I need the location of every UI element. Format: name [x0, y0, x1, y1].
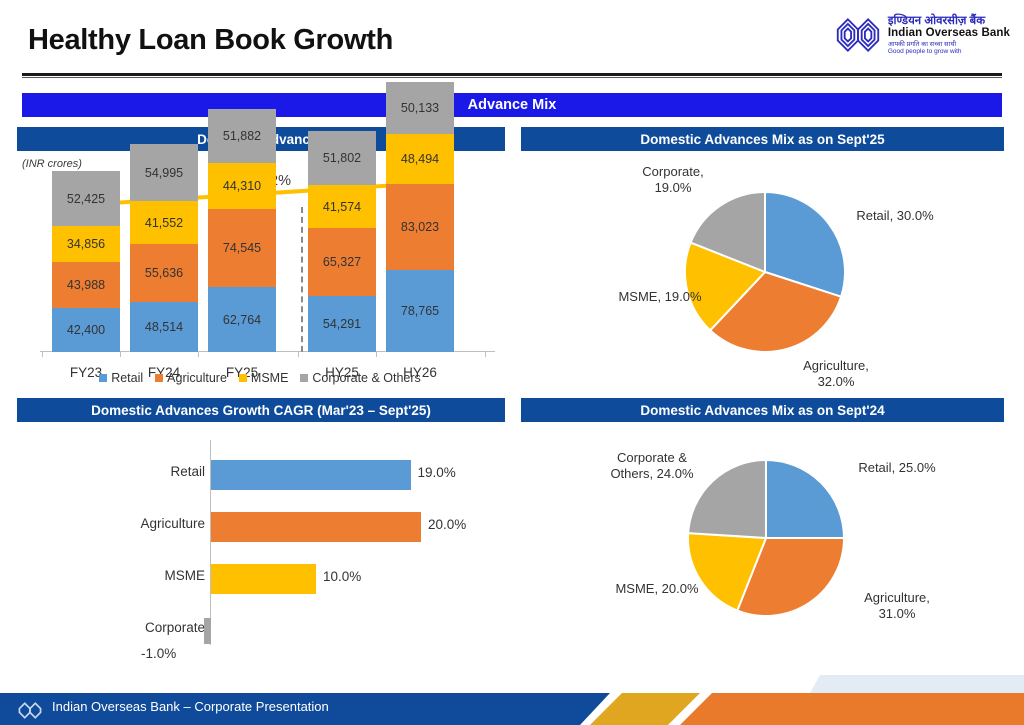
pie-label-agriculture: Agriculture, 32.0% — [776, 358, 896, 391]
pie-slice-retail — [766, 460, 844, 538]
bar-segment-corporate-others: 54,995 — [130, 144, 198, 201]
header-rule — [22, 73, 1002, 76]
bar-column-hy26: 50,13348,49483,02378,765 — [386, 82, 454, 352]
bar-segment-msme: 41,574 — [308, 185, 376, 228]
bar-segment-agriculture: 65,327 — [308, 228, 376, 296]
legend-label-retail: Retail — [111, 371, 143, 385]
legend-item-agriculture: Agriculture — [155, 371, 227, 385]
bank-logo: इण्डियन ओवरसीज़ बैंक Indian Overseas Ban… — [835, 12, 1010, 58]
bar-column-hy25: 51,80241,57465,32754,291 — [308, 131, 376, 352]
cagr-row-corporate: Corporate-1.0% — [17, 614, 505, 648]
bar-segment-retail: 78,765 — [386, 270, 454, 352]
cagr-category-label-msme: MSME — [165, 568, 206, 583]
advance-mix-banner: Advance Mix — [22, 93, 1002, 117]
bar-segment-agriculture: 43,988 — [52, 262, 120, 308]
page-title: Healthy Loan Book Growth — [28, 24, 393, 57]
iob-diamond-logo-icon — [835, 12, 881, 58]
logo-hindi-name: इण्डियन ओवरसीज़ बैंक — [888, 15, 1010, 27]
legend-swatch-agriculture — [155, 374, 163, 382]
period-divider — [301, 207, 303, 352]
cagr-category-label-retail: Retail — [170, 464, 205, 479]
bar-column-fy25: 51,88244,31074,54562,764 — [208, 109, 276, 352]
pie-label-retail: Retail, 25.0% — [837, 460, 957, 476]
bar-segment-corporate-others: 51,882 — [208, 109, 276, 163]
cagr-category-label-corporate: Corporate — [145, 620, 205, 635]
bar-chart-legend: Retail Agriculture MSME Corporate & Othe… — [20, 371, 500, 385]
cagr-value-label-retail: 19.0% — [418, 465, 456, 480]
cagr-bar-msme — [211, 564, 316, 594]
pie-label-msme: MSME, 19.0% — [605, 289, 715, 305]
legend-label-agriculture: Agriculture — [167, 371, 227, 385]
panel-title-growth-cagr: Domestic Advances Growth CAGR (Mar'23 – … — [17, 398, 505, 422]
bar-segment-agriculture: 83,023 — [386, 184, 454, 270]
bar-column-fy24: 54,99541,55255,63648,514 — [130, 144, 198, 352]
header-rule-thin — [22, 77, 1002, 78]
bar-segment-corporate-others: 50,133 — [386, 82, 454, 134]
stacked-bar-chart: 52,42534,85643,98842,400FY2354,99541,552… — [20, 160, 500, 390]
pie-chart-sept25: Retail, 30.0%Agriculture, 32.0%MSME, 19.… — [521, 152, 1004, 395]
pie-label-corporate: Corporate, 19.0% — [613, 164, 733, 197]
bar-segment-msme: 44,310 — [208, 163, 276, 209]
panel-title-mix-sept25: Domestic Advances Mix as on Sept'25 — [521, 127, 1004, 151]
bar-column-fy23: 52,42534,85643,98842,400 — [52, 171, 120, 352]
cagr-row-retail: Retail19.0% — [17, 458, 505, 492]
cagr-category-label-agriculture: Agriculture — [140, 516, 205, 531]
bar-segment-msme: 34,856 — [52, 226, 120, 262]
cagr-bar-corporate — [204, 618, 211, 644]
cagr-bar-agriculture — [211, 512, 421, 542]
pie-label-retail: Retail, 30.0% — [835, 208, 955, 224]
bar-segment-agriculture: 74,545 — [208, 209, 276, 287]
cagr-row-msme: MSME10.0% — [17, 562, 505, 596]
bar-segment-retail: 42,400 — [52, 308, 120, 352]
footer-bar: Indian Overseas Bank – Corporate Present… — [0, 693, 1024, 725]
legend-label-corporate: Corporate & Others — [312, 371, 420, 385]
bar-segment-corporate-others: 52,425 — [52, 171, 120, 226]
pie-chart-sept24: Retail, 25.0%Agriculture, 31.0%MSME, 20.… — [521, 424, 1004, 667]
legend-item-retail: Retail — [99, 371, 143, 385]
logo-english-name: Indian Overseas Bank — [888, 27, 1010, 39]
x-tick — [120, 352, 121, 357]
legend-item-corporate: Corporate & Others — [300, 371, 420, 385]
bar-segment-retail: 54,291 — [308, 296, 376, 352]
legend-swatch-msme — [239, 374, 247, 382]
x-tick — [298, 352, 299, 357]
legend-swatch-corporate — [300, 374, 308, 382]
x-tick — [42, 352, 43, 357]
pie-label-msme: MSME, 20.0% — [597, 581, 717, 597]
bar-segment-msme: 41,552 — [130, 201, 198, 244]
legend-label-msme: MSME — [251, 371, 289, 385]
pie-label-corporate-others: Corporate & Others, 24.0% — [587, 450, 717, 483]
cagr-bar-chart: Retail19.0%Agriculture20.0%MSME10.0%Corp… — [17, 430, 505, 665]
bar-segment-retail: 62,764 — [208, 287, 276, 352]
pie-svg — [521, 152, 1004, 395]
x-tick — [198, 352, 199, 357]
cagr-row-agriculture: Agriculture20.0% — [17, 510, 505, 544]
logo-english-tagline: Good people to grow with — [888, 49, 1010, 56]
bar-segment-msme: 48,494 — [386, 134, 454, 184]
bar-segment-corporate-others: 51,802 — [308, 131, 376, 185]
pie-label-agriculture: Agriculture, 31.0% — [837, 590, 957, 623]
cagr-value-label-msme: 10.0% — [323, 569, 361, 584]
legend-swatch-retail — [99, 374, 107, 382]
bar-segment-retail: 48,514 — [130, 302, 198, 352]
cagr-bar-retail — [211, 460, 411, 490]
cagr-value-label-agriculture: 20.0% — [428, 517, 466, 532]
x-tick — [376, 352, 377, 357]
panel-title-mix-sept24: Domestic Advances Mix as on Sept'24 — [521, 398, 1004, 422]
footer-text: Indian Overseas Bank – Corporate Present… — [52, 699, 329, 714]
legend-item-msme: MSME — [239, 371, 289, 385]
footer-iob-logo-icon — [18, 700, 42, 720]
bar-segment-agriculture: 55,636 — [130, 244, 198, 302]
x-tick — [485, 352, 486, 357]
